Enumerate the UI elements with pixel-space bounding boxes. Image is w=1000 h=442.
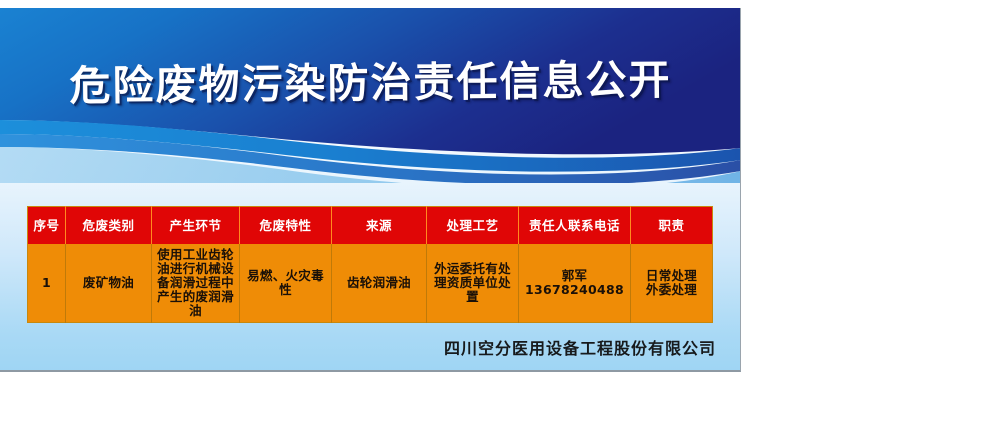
- cell-stage: 使用工业齿轮油进行机械设备润滑过程中产生的废润滑油: [152, 244, 240, 323]
- cell-contact-text: 郭军 13678240488: [521, 269, 628, 297]
- column-header-process: 处理工艺: [427, 207, 519, 245]
- cell-contact: 郭军 13678240488: [519, 244, 631, 323]
- company-name: 四川空分医用设备工程股份有限公司: [0, 335, 716, 359]
- column-header-contact: 责任人联系电话: [519, 207, 631, 245]
- cell-properties-text: 易燃、火灾毒性: [242, 269, 329, 297]
- column-header-index: 序号: [28, 207, 66, 245]
- cell-stage-text: 使用工业齿轮油进行机械设备润滑过程中产生的废润滑油: [154, 248, 237, 318]
- cell-category-text: 废矿物油: [68, 276, 149, 290]
- column-header-properties: 危废特性: [240, 207, 332, 245]
- column-header-category: 危废类别: [66, 207, 152, 245]
- table-row: 1 废矿物油 使用工业齿轮油进行机械设备润滑过程中产生的废润滑油 易燃、火灾毒性…: [28, 244, 713, 323]
- cell-duty: 日常处理 外委处理: [631, 244, 713, 323]
- column-header-duty: 职责: [631, 207, 713, 245]
- cell-category: 废矿物油: [66, 244, 152, 323]
- information-poster: 危险废物污染防治责任信息公开 序号 危废类别 产生环节 危废特性 来源 处理工艺…: [0, 8, 741, 372]
- cell-index-text: 1: [30, 276, 63, 290]
- cell-source: 齿轮润滑油: [332, 244, 427, 323]
- cell-process: 外运委托有处理资质单位处置: [427, 244, 519, 323]
- cell-duty-text: 日常处理 外委处理: [633, 269, 710, 297]
- table-header-row: 序号 危废类别 产生环节 危废特性 来源 处理工艺 责任人联系电话 职责: [28, 207, 713, 245]
- cell-source-text: 齿轮润滑油: [334, 276, 424, 290]
- column-header-stage: 产生环节: [152, 207, 240, 245]
- cell-index: 1: [28, 244, 66, 323]
- cell-process-text: 外运委托有处理资质单位处置: [429, 262, 516, 304]
- hazardous-waste-table: 序号 危废类别 产生环节 危废特性 来源 处理工艺 责任人联系电话 职责 1 废…: [27, 206, 713, 323]
- cell-properties: 易燃、火灾毒性: [240, 244, 332, 323]
- column-header-source: 来源: [332, 207, 427, 245]
- page-title: 危险废物污染防治责任信息公开: [0, 54, 741, 112]
